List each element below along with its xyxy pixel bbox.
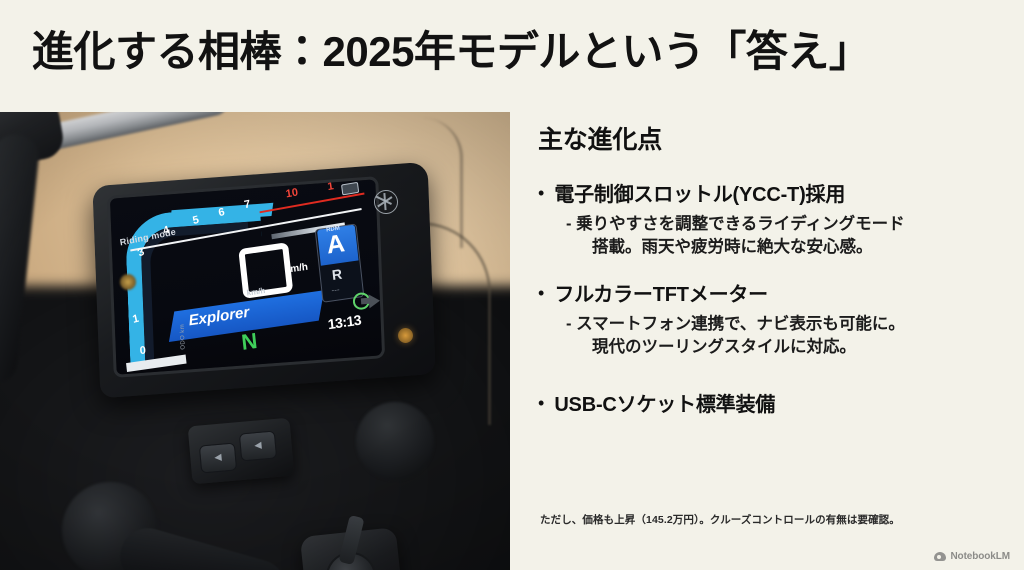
clock-readout: 13:13 (327, 312, 362, 333)
bullet-sub-2: - スマートフォン連携で、ナビ表示も可能に。 現代のツーリングスタイルに対応。 (566, 313, 1008, 360)
notebooklm-watermark: NotebookLM (934, 551, 1010, 562)
footnote-text: ただし、価格も上昇（145.2万円）。クルーズコントロールの有無は要確認。 (540, 512, 1010, 527)
right-handlebar-knob (356, 402, 434, 480)
left-indicator-lens-icon (120, 274, 136, 290)
bullet-sub-2-line2: 現代のツーリングスタイルに対応。 (592, 336, 1008, 359)
bullet-dot-icon-3: • (538, 392, 544, 415)
bullet-row-3: • USB-Cソケット標準装備 (538, 392, 1008, 418)
rdm-mode-letter: A (325, 231, 346, 258)
bullet-title-3: USB-Cソケット標準装備 (554, 392, 775, 418)
arrow-up-icon: ◄ (251, 438, 264, 453)
odometer-label: ODO km (180, 324, 187, 350)
bullet-block-3: • USB-Cソケット標準装備 (538, 392, 1008, 418)
bullet-block-2: • フルカラーTFTメーター - スマートフォン連携で、ナビ表示も可能に。 現代… (538, 282, 1008, 360)
bullet-dot-icon-2: • (538, 282, 544, 305)
rdm-dash-value: --- (331, 285, 340, 295)
bullet-title-2: フルカラーTFTメーター (554, 282, 768, 308)
bullet-dot-icon-1: • (538, 182, 544, 205)
tft-meter-bezel: Riding mode 0 1 2 3 4 5 6 7 10 1 km/h km… (107, 176, 385, 378)
slide-root: 進化する相棒：2025年モデルという「答え」 Riding mode 0 1 2… (0, 0, 1024, 570)
section-heading: 主な進化点 (538, 120, 1008, 156)
arrow-left-icon: ◄ (211, 450, 224, 465)
notebooklm-logo-icon (934, 552, 946, 561)
content-panel: 主な進化点 • 電子制御スロットル(YCC-T)採用 - 乗りやすさを調整できる… (538, 120, 1008, 440)
bullet-sub-1: - 乗りやすさを調整できるライディングモード 搭載。雨天や疲労時に絶大な安心感。 (566, 213, 1008, 260)
bullet-sub-1-line1: - 乗りやすさを調整できるライディングモード (566, 215, 905, 233)
speed-unit-label: km/h (284, 262, 308, 276)
notebooklm-label: NotebookLM (950, 551, 1010, 562)
tach-tick-0: 0 (139, 344, 146, 357)
bullet-row-2: • フルカラーTFTメーター (538, 282, 1008, 308)
tach-tick-10: 10 (285, 186, 299, 200)
bullet-sub-1-line2: 搭載。雨天や疲労時に絶大な安心感。 (592, 236, 1008, 259)
turn-signal-arrow-tail-icon (361, 298, 371, 305)
gear-indicator: N (240, 328, 259, 356)
rdm-secondary-letter: R (331, 266, 343, 283)
bullet-block-1: • 電子制御スロットル(YCC-T)採用 - 乗りやすさを調整できるライディング… (538, 182, 1008, 260)
motorcycle-dashboard-photo: Riding mode 0 1 2 3 4 5 6 7 10 1 km/h km… (0, 112, 510, 570)
bullet-row-1: • 電子制御スロットル(YCC-T)採用 (538, 182, 1008, 208)
tft-screen: Riding mode 0 1 2 3 4 5 6 7 10 1 km/h km… (110, 179, 382, 374)
bullet-sub-2-line1: - スマートフォン連携で、ナビ表示も可能に。 (566, 315, 905, 333)
bullet-title-1: 電子制御スロットル(YCC-T)採用 (554, 182, 845, 208)
page-title: 進化する相棒：2025年モデルという「答え」 (32, 28, 992, 75)
